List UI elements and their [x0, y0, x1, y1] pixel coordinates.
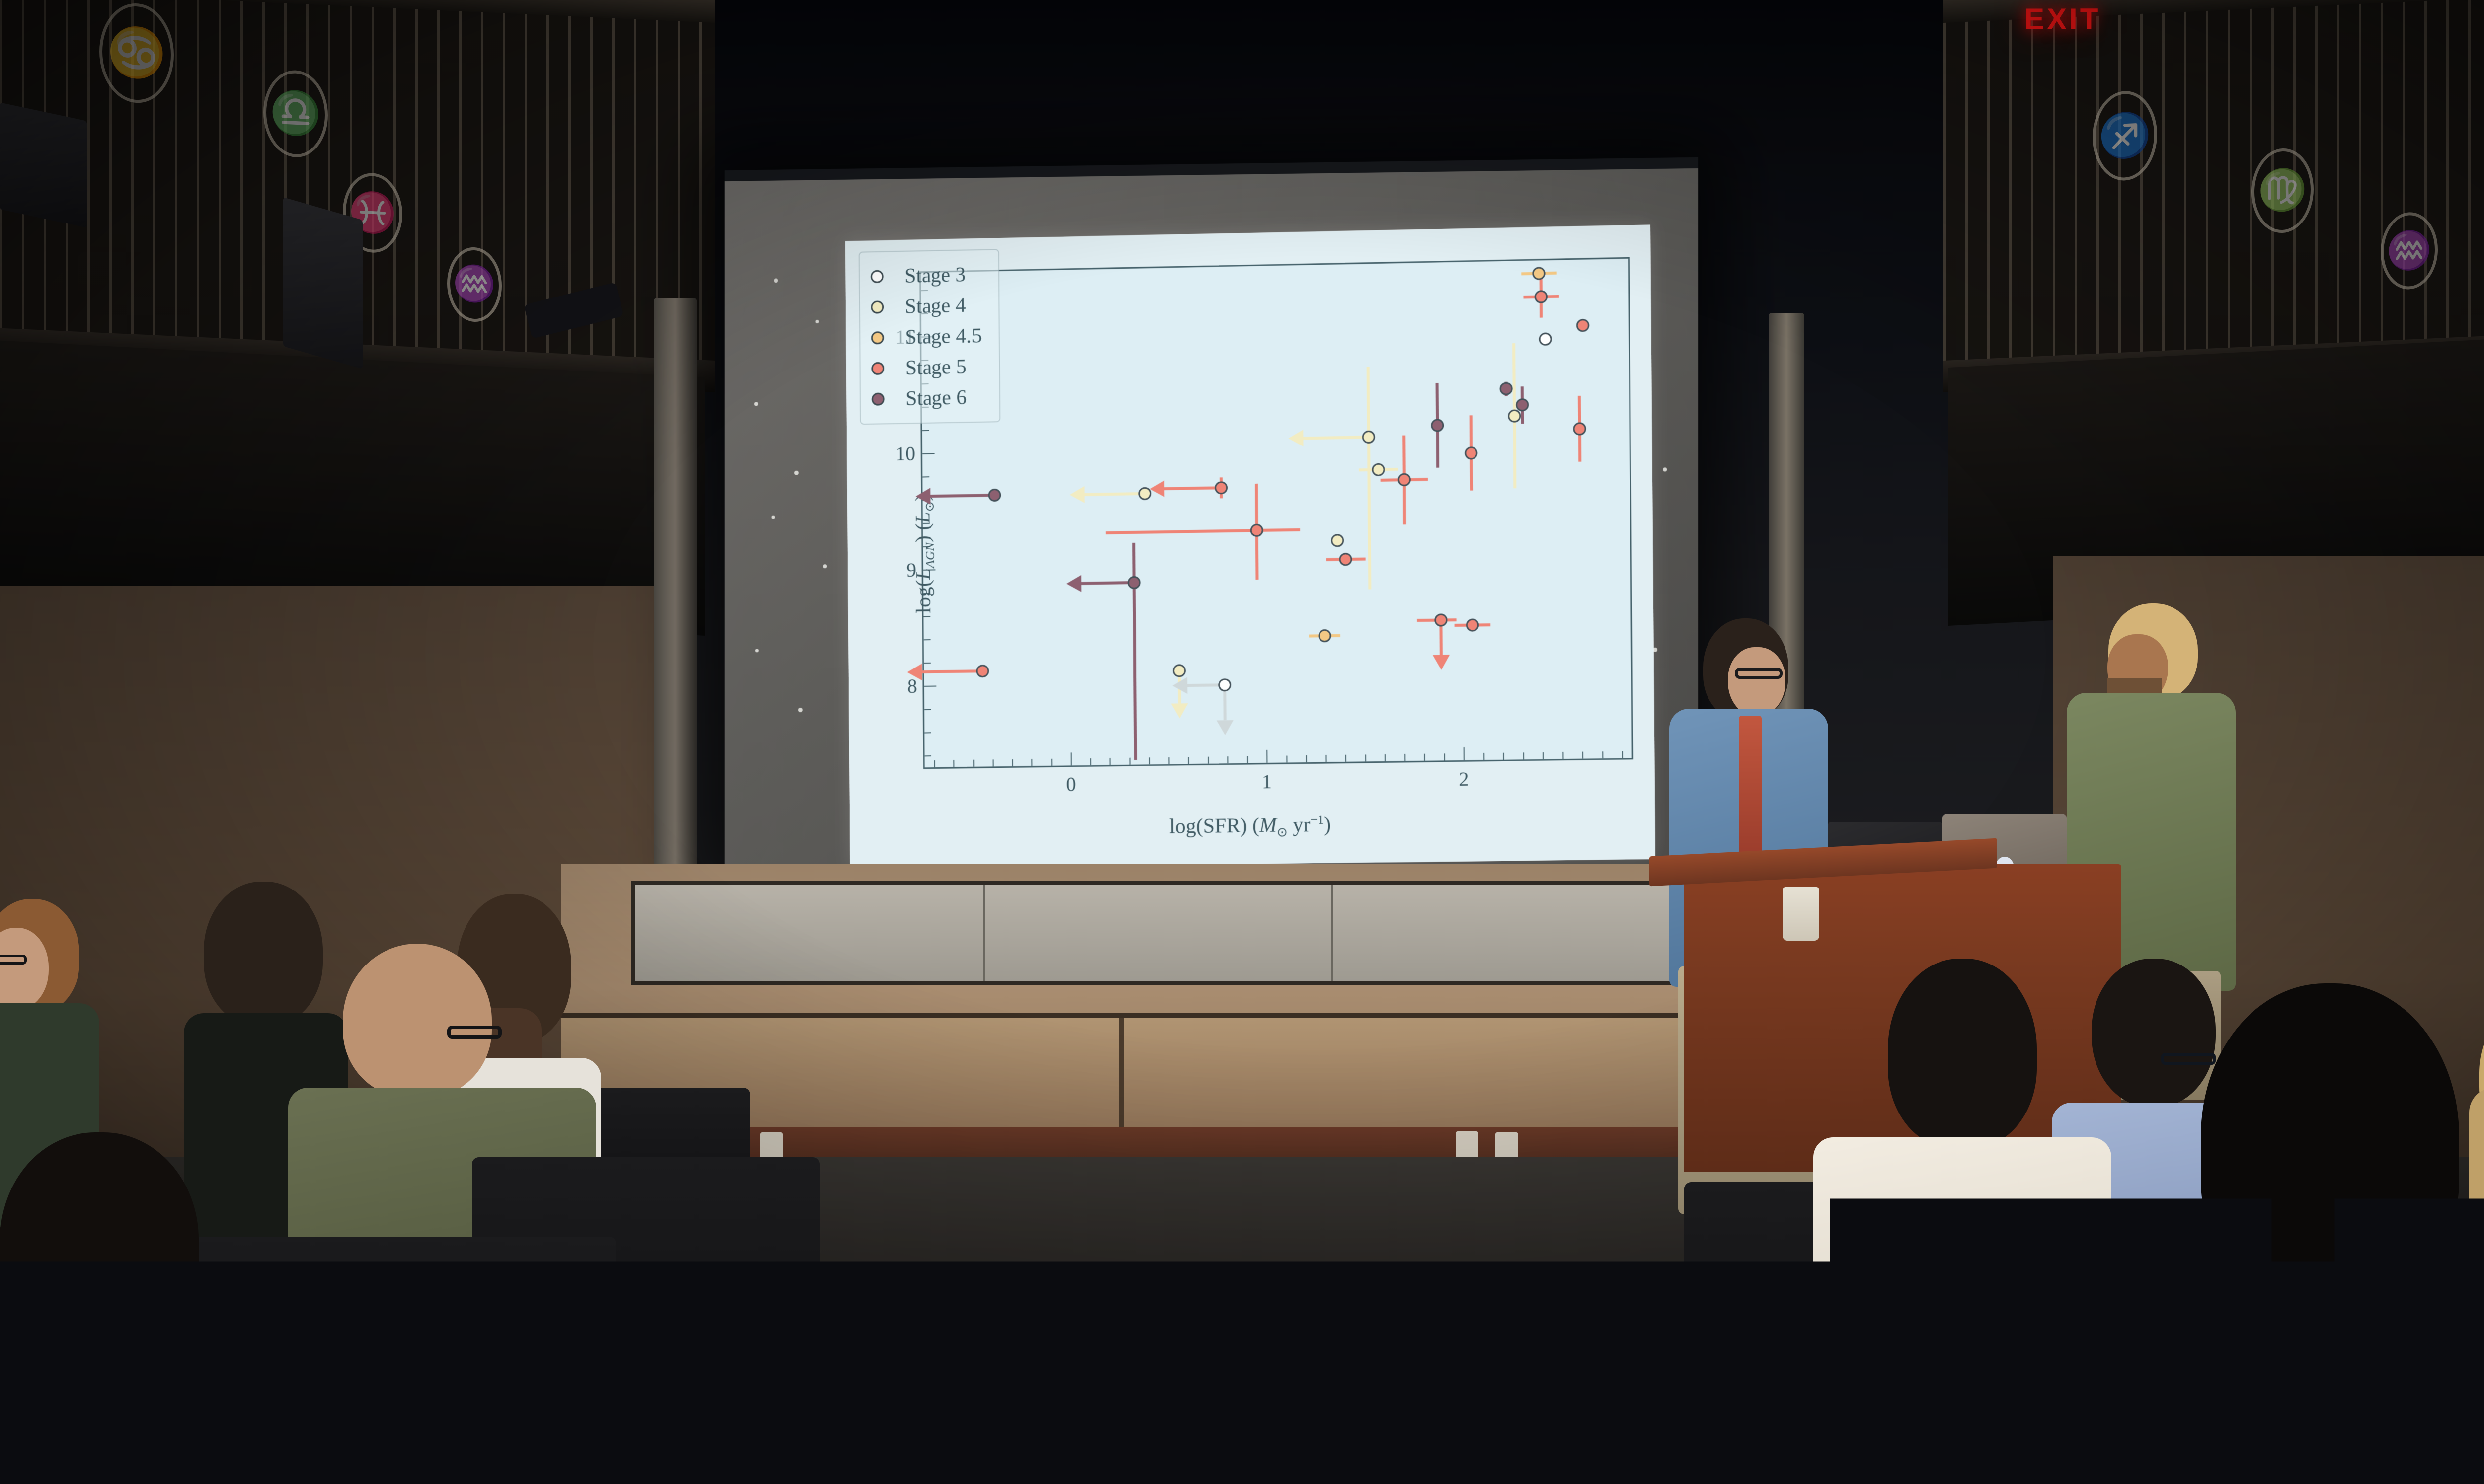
y-minor-tick — [924, 733, 931, 734]
legend-marker-icon — [871, 362, 884, 375]
x-minor-tick — [1188, 757, 1189, 764]
data-point[interactable] — [1500, 382, 1513, 396]
x-minor-tick — [1325, 755, 1326, 762]
left-arrow-icon — [907, 664, 922, 680]
loudspeaker-left-upper — [0, 102, 87, 227]
legend-label: Stage 4.5 — [905, 324, 982, 349]
left-arrow-icon — [1289, 430, 1304, 447]
left-arrow-icon — [1066, 575, 1081, 592]
y-tick-label: 10 — [895, 442, 915, 465]
panel-divider — [983, 885, 985, 981]
plot-canvas: 891011012 log(SFR) (M⊙ yr−1) log(LAGN) (… — [845, 224, 1655, 869]
lecture-hall-photo: ♋ ♎ ♓ ♒ ♐ ♍ ♒ ♊ EXIT — [0, 0, 2484, 1484]
presenter-glasses-icon — [1735, 668, 1783, 679]
y-major-tick — [922, 453, 935, 454]
x-minor-tick — [1286, 756, 1287, 763]
x-minor-tick — [1168, 757, 1169, 764]
x-minor-tick — [1562, 752, 1563, 759]
x-minor-tick — [1208, 757, 1209, 764]
y-axis-title: log(LAGN) (L⊙) — [911, 494, 938, 614]
data-point[interactable] — [1516, 398, 1529, 412]
y-minor-tick — [924, 709, 931, 710]
loudspeaker-left-lower — [283, 197, 363, 369]
pipe-column-left — [654, 298, 697, 874]
x-minor-tick — [1503, 753, 1504, 760]
legend-item-stage-4[interactable]: Stage 4 — [871, 290, 982, 323]
x-minor-tick — [1149, 757, 1150, 764]
x-upper-limit-bar — [928, 494, 994, 498]
data-point[interactable] — [1138, 487, 1151, 500]
paper-coffee-cup — [1783, 887, 1819, 941]
legend-label: Stage 6 — [905, 386, 967, 411]
left-arrow-icon — [915, 488, 930, 505]
down-arrow-icon — [1217, 720, 1234, 735]
x-minor-tick — [1523, 752, 1524, 759]
data-point[interactable] — [1466, 619, 1479, 632]
x-minor-tick — [973, 760, 974, 767]
data-point[interactable] — [1508, 409, 1521, 423]
data-point[interactable] — [976, 665, 989, 677]
audience-torso — [0, 1341, 278, 1484]
down-arrow-icon — [1433, 655, 1450, 670]
x-minor-tick — [993, 759, 994, 766]
x-major-tick — [1071, 752, 1072, 765]
audience-head — [343, 944, 492, 1098]
data-point[interactable] — [1250, 524, 1263, 537]
x-minor-tick — [1404, 754, 1405, 761]
data-point[interactable] — [1362, 431, 1375, 444]
data-point[interactable] — [1331, 534, 1344, 547]
y-error-bar — [1366, 367, 1371, 590]
audience-head — [1888, 959, 2037, 1147]
x-tick-label: 2 — [1459, 767, 1469, 791]
audience-torso — [2121, 1281, 2484, 1484]
y-minor-tick — [922, 476, 929, 477]
legend-marker-icon — [872, 393, 885, 406]
balcony-railing-slats-right — [1943, 0, 2484, 392]
left-arrow-icon — [1070, 486, 1085, 503]
data-point[interactable] — [1397, 473, 1410, 487]
dust-speck — [755, 649, 759, 652]
whiteboard-panel — [631, 881, 1694, 985]
data-point[interactable] — [1372, 463, 1385, 477]
x-tick-label: 1 — [1262, 770, 1272, 793]
data-point[interactable] — [988, 488, 1001, 501]
y-minor-tick — [924, 639, 931, 640]
dust-speck — [774, 278, 778, 283]
dust-speck — [1663, 467, 1667, 471]
x-minor-tick — [1129, 758, 1130, 765]
x-minor-tick — [1110, 758, 1111, 765]
x-upper-limit-bar — [1079, 581, 1134, 585]
x-minor-tick — [954, 760, 955, 767]
x-minor-tick — [1385, 754, 1386, 761]
y-major-tick — [924, 686, 937, 687]
legend-item-stage-6[interactable]: Stage 6 — [872, 382, 983, 415]
audience-head — [2201, 983, 2459, 1301]
audience-glasses-icon — [0, 955, 27, 965]
data-point[interactable] — [1539, 332, 1552, 346]
data-point[interactable] — [1431, 419, 1444, 432]
data-point[interactable] — [1532, 267, 1545, 280]
data-point[interactable] — [1535, 290, 1548, 303]
x-upper-limit-bar — [1302, 436, 1369, 440]
x-minor-tick — [1012, 759, 1013, 766]
data-point[interactable] — [1339, 553, 1352, 566]
down-arrow-icon — [1171, 703, 1188, 718]
y-minor-tick — [922, 430, 929, 431]
x-major-tick — [1464, 747, 1465, 760]
x-minor-tick — [1582, 752, 1583, 759]
x-upper-limit-bar — [1163, 486, 1221, 490]
x-minor-tick — [1622, 751, 1623, 758]
panel-divider — [1331, 885, 1333, 981]
dust-speck — [823, 564, 827, 568]
dust-speck — [754, 402, 758, 406]
audience-head — [0, 1132, 199, 1356]
x-minor-tick — [1444, 753, 1445, 760]
dust-speck — [794, 471, 799, 475]
x-minor-tick — [1602, 751, 1603, 758]
data-point[interactable] — [1127, 576, 1140, 589]
x-tick-label: 0 — [1066, 772, 1076, 796]
audience-front-1 — [0, 1132, 278, 1484]
x-minor-tick — [1247, 756, 1248, 763]
data-point[interactable] — [1318, 629, 1331, 642]
audience-right-1 — [1803, 959, 2111, 1484]
projected-slide: 891011012 log(SFR) (M⊙ yr−1) log(LAGN) (… — [845, 224, 1655, 869]
data-point[interactable] — [1576, 319, 1589, 332]
data-point[interactable] — [1173, 664, 1186, 677]
legend-label: Stage 5 — [905, 355, 967, 380]
y-error-bar — [1132, 543, 1137, 760]
data-point[interactable] — [1434, 613, 1447, 626]
legend-item-stage-5[interactable]: Stage 5 — [871, 351, 982, 384]
wainscot-divider — [1119, 1018, 1124, 1127]
x-major-tick — [1266, 750, 1267, 763]
audience-right-3 — [2126, 983, 2484, 1484]
x-minor-tick — [1483, 753, 1484, 760]
x-minor-tick — [934, 760, 935, 767]
projection-screen: 891011012 log(SFR) (M⊙ yr−1) log(LAGN) (… — [725, 157, 1698, 871]
x-minor-tick — [1365, 754, 1366, 761]
data-point[interactable] — [1215, 481, 1228, 494]
x-minor-tick — [1424, 754, 1425, 761]
data-point[interactable] — [1465, 446, 1477, 460]
legend-item-stage-4-5[interactable]: Stage 4.5 — [871, 320, 982, 353]
y-minor-tick — [924, 663, 931, 664]
left-arrow-icon — [1150, 480, 1164, 497]
x-minor-tick — [1543, 752, 1544, 759]
y-minor-tick — [923, 616, 930, 617]
x-axis-title: log(SFR) (M⊙ yr−1) — [1169, 812, 1331, 841]
plot-axes-frame: 891011012 — [919, 257, 1633, 769]
x-upper-limit-bar — [1083, 492, 1145, 496]
x-minor-tick — [1306, 755, 1307, 762]
left-arrow-icon — [1172, 677, 1187, 694]
legend-marker-icon — [871, 300, 884, 313]
data-point[interactable] — [1218, 678, 1231, 691]
legend-marker-icon — [871, 270, 884, 283]
x-minor-tick — [1090, 758, 1091, 765]
legend-label: Stage 3 — [904, 263, 966, 288]
x-error-bar — [1106, 528, 1300, 534]
dust-speck — [798, 708, 803, 712]
audience-torso — [1813, 1137, 2111, 1435]
x-minor-tick — [1032, 759, 1033, 766]
dust-speck — [772, 516, 775, 519]
legend-label: Stage 4 — [905, 294, 966, 318]
x-upper-limit-bar — [920, 669, 982, 673]
presenter-face — [1728, 647, 1785, 717]
dust-speck — [815, 320, 819, 323]
x-minor-tick — [1345, 755, 1346, 762]
chart-legend: Stage 3Stage 4Stage 4.5Stage 5Stage 6 — [859, 249, 1001, 425]
legend-item-stage-3[interactable]: Stage 3 — [871, 259, 982, 292]
x-minor-tick — [1051, 759, 1052, 766]
legend-marker-icon — [871, 331, 884, 344]
x-minor-tick — [1228, 756, 1229, 763]
exit-sign: EXIT — [2024, 2, 2100, 36]
data-point[interactable] — [1573, 422, 1586, 436]
balcony-right: ♐ ♍ ♒ ♊ — [1943, 0, 2484, 392]
y-minor-tick — [925, 756, 931, 757]
audience-glasses-icon — [447, 1026, 502, 1039]
